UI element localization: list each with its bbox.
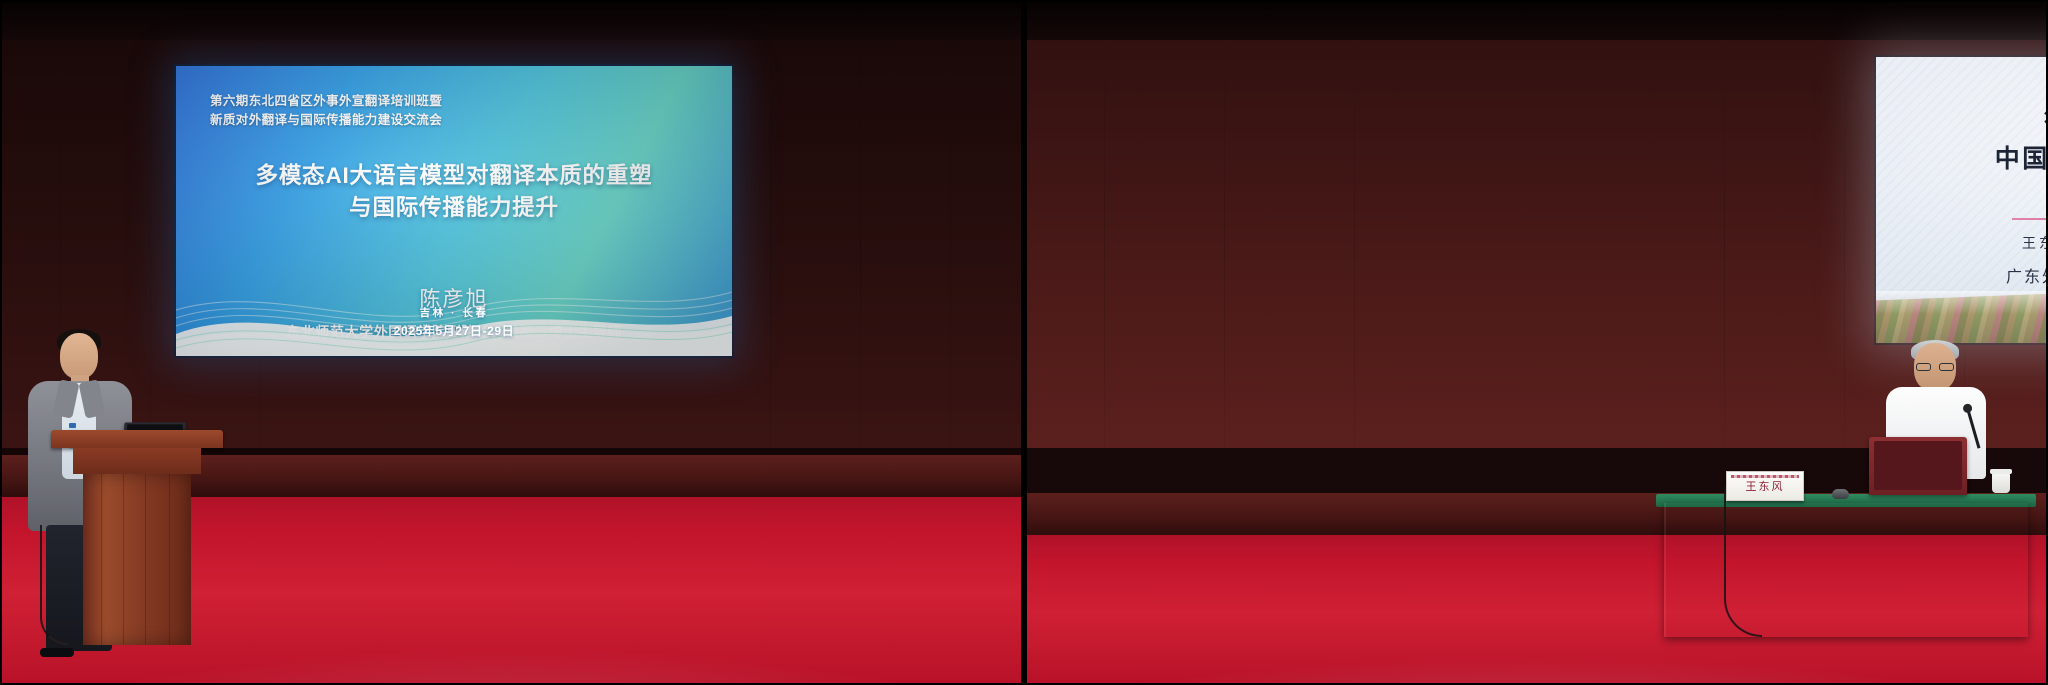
slide-title-left: 多模态AI大语言模型对翻译本质的重塑 与国际传播能力提升	[176, 160, 732, 224]
slide-title-line1: 多模态AI大语言模型对翻译本质的重塑	[176, 160, 732, 192]
floor-cable-left	[40, 525, 68, 645]
projection-screen-right: 符号重构与术语博弈: 中国译者文化主权意识的觉醒 王东风 广东外语外贸大学 / …	[1876, 57, 2048, 343]
cup-lid	[1990, 469, 2012, 474]
slide-title-right-line1: 符号重构与术语博弈:	[1876, 101, 2048, 140]
slide-title-right: 符号重构与术语博弈: 中国译者文化主权意识的觉醒	[1876, 101, 2048, 179]
floor-cable-right	[1724, 487, 1762, 637]
computer-mouse-icon	[1832, 489, 1849, 499]
panel-divider	[1021, 0, 1027, 685]
eyeglasses-icon	[1916, 363, 1954, 371]
wooden-podium	[57, 430, 217, 645]
slide-location: 吉林 · 长春	[176, 306, 732, 322]
slide-deck-photo	[1876, 291, 2048, 343]
photo-pair-composite: 第六期东北四省区外事外宣翻译培训班暨 新质对外翻译与国际传播能力建设交流会 多模…	[0, 0, 2048, 685]
lecture-desk-group: 王东风	[1024, 355, 2048, 685]
slide-header-left: 第六期东北四省区外事外宣翻译培训班暨 新质对外翻译与国际传播能力建设交流会	[210, 92, 442, 131]
podium-body	[83, 474, 191, 645]
desk-cloth-folds	[1664, 503, 2028, 637]
projection-screen-left: 第六期东北四省区外事外宣翻译培训班暨 新质对外翻译与国际传播能力建设交流会 多模…	[176, 66, 732, 356]
podium-wood-grain	[83, 474, 191, 645]
slide-header-line2: 新质对外翻译与国际传播能力建设交流会	[210, 111, 442, 130]
laptop-screen-right	[1874, 441, 1962, 490]
slide-speaker-affiliation-right: 广东外语外贸大学 / 中山大学	[2006, 263, 2048, 287]
slide-speaker-name-right: 王东风	[2022, 233, 2048, 253]
nameplate-banner	[1731, 475, 1799, 478]
green-draped-desk	[1664, 503, 2028, 637]
left-photo-panel: 第六期东北四省区外事外宣翻译培训班暨 新质对外翻译与国际传播能力建设交流会 多模…	[0, 0, 1024, 685]
presenter-head	[60, 333, 98, 379]
bottle-cap	[69, 423, 76, 428]
slide-title-line2: 与国际传播能力提升	[176, 192, 732, 224]
deck-shading	[1876, 291, 2048, 343]
laptop-icon-right	[1869, 437, 1967, 495]
presenter-shoes	[40, 648, 74, 657]
slide-title-right-line2: 中国译者文化主权意识的觉醒	[1876, 140, 2048, 179]
slide-divider-rule	[2012, 218, 2048, 220]
coffee-cup-icon	[1992, 473, 2010, 493]
right-photo-panel: 符号重构与术语博弈: 中国译者文化主权意识的觉醒 王东风 广东外语外贸大学 / …	[1024, 0, 2048, 685]
slide-date: 2025年5月27日-29日	[176, 322, 732, 340]
slide-footer-left: 吉林 · 长春 2025年5月27日-29日	[176, 306, 732, 340]
slide-header-line1: 第六期东北四省区外事外宣翻译培训班暨	[210, 92, 442, 111]
podium-neck	[73, 448, 201, 474]
podium-top	[51, 430, 223, 448]
